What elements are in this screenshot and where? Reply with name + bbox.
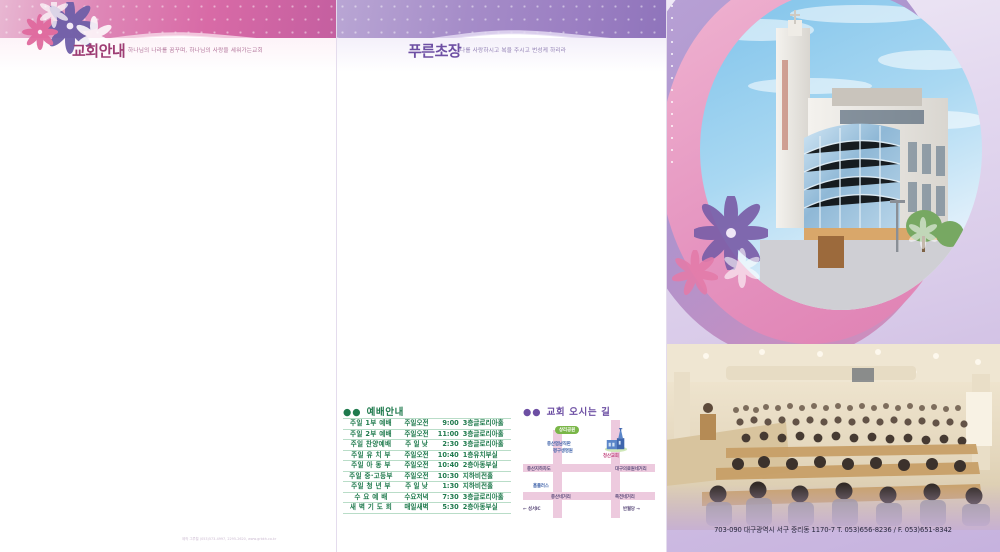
- schedule-row: 수 요 예 배수요저녁7:303층글로리아홀: [343, 492, 511, 503]
- schedule-row: 주일 찬양예배주 일 낮2:303층글로리아홀: [343, 440, 511, 451]
- schedule-cell-time: 10:40: [434, 450, 461, 461]
- schedule-cell-when: 주 일 낮: [399, 440, 434, 451]
- schedule-cell-time: 10:30: [434, 471, 461, 482]
- schedule-cell-place: 3층글로리아홀: [461, 429, 511, 440]
- schedule-cell-service: 수 요 예 배: [343, 492, 399, 503]
- schedule-cell-place: 3층글로리아홀: [461, 492, 511, 503]
- header-tint-field: [0, 38, 336, 72]
- schedule-cell-time: 7:30: [434, 492, 461, 503]
- schedule-cell-when: 주일오전: [399, 429, 434, 440]
- section-heading-worship: ●●예배안내: [343, 404, 404, 418]
- schedule-cell-place: 3층글로리아홀: [461, 419, 511, 430]
- schedule-row: 주일 중·고등부주일오전10:30지하비전홀: [343, 471, 511, 482]
- map-landmark-6: 중산네거리: [551, 494, 571, 500]
- map-road-horizontal-lower: [523, 492, 655, 500]
- map-direction-left: ← 성서IC: [523, 506, 541, 512]
- map-landmark-1: 중산염남직판: [547, 441, 571, 447]
- schedule-cell-place: 3층글로리아홀: [461, 440, 511, 451]
- page-subtitle-pureun-chojang: 나를 사랑하시고 복을 주시고 번성케 하리라: [460, 46, 566, 54]
- schedule-cell-place: 2층아동부실: [461, 503, 511, 514]
- schedule-cell-service: 주일 2부 예배: [343, 429, 399, 440]
- schedule-cell-when: 주일오전: [399, 461, 434, 472]
- schedule-cell-when: 수요저녁: [399, 492, 434, 503]
- header-tint-field-2: [336, 38, 666, 72]
- schedule-cell-place: 2층아동부실: [461, 461, 511, 472]
- map-direction-right: 반월당 →: [623, 506, 640, 512]
- schedule-cell-time: 11:00: [434, 429, 461, 440]
- map-landmark-park: 상리공원: [555, 426, 579, 434]
- map-landmark-2: 평구생명원: [553, 448, 573, 454]
- schedule-row: 주일 2부 예배주일오전11:003층글로리아홀: [343, 429, 511, 440]
- schedule-cell-service: 주일 1부 예배: [343, 419, 399, 430]
- schedule-cell-time: 1:30: [434, 482, 461, 493]
- panel-fold-line-1: [336, 0, 337, 552]
- schedule-cell-service: 주일 찬양예배: [343, 440, 399, 451]
- panel-cover: 복음을 나누는 교회 청산교회 담임목사 오 재 현 하나님의말씀과 기도로 거…: [666, 0, 1000, 552]
- map-church-label: 청산교회: [603, 453, 619, 459]
- schedule-cell-when: 주일오전: [399, 419, 434, 430]
- schedule-cell-time: 9:00: [434, 419, 461, 430]
- schedule-row: 주일 1부 예배주일오전9:003층글로리아홀: [343, 419, 511, 430]
- schedule-cell-time: 2:30: [434, 440, 461, 451]
- square-bullet-icon-2: ●●: [523, 407, 542, 418]
- map-landmark-3: 중산지하차도: [527, 466, 551, 472]
- panel-body-blank: [0, 60, 336, 552]
- worship-schedule-table: 주일 1부 예배주일오전9:003층글로리아홀주일 2부 예배주일오전11:00…: [343, 418, 511, 514]
- map-landmark-4: 대구의료원네거리: [615, 466, 647, 472]
- church-building-photo: [700, 0, 982, 310]
- schedule-row: 주일 아 동 부주일오전10:402층아동부실: [343, 461, 511, 472]
- congregation-photo: [666, 344, 1000, 530]
- schedule-cell-place: 지하비전홀: [461, 471, 511, 482]
- schedule-cell-service: 새 벽 기 도 회: [343, 503, 399, 514]
- page-title-church-guide: 교회안내: [72, 40, 125, 61]
- schedule-cell-time: 5:30: [434, 503, 461, 514]
- page-subtitle-church-guide: 하나님의 나라를 꿈꾸며, 하나님의 사랑을 세워가는교회: [128, 46, 263, 54]
- panel-fold-line-2: [666, 0, 667, 552]
- schedule-cell-place: 1층유치부실: [461, 450, 511, 461]
- cover-dot-pattern: [666, 0, 680, 170]
- schedule-cell-service: 주일 청 년 부: [343, 482, 399, 493]
- schedule-row: 주일 유 치 부주일오전10:401층유치부실: [343, 450, 511, 461]
- print-credit: 제작 그루철 (053)573-4997, 2295-2620, www.grb…: [182, 536, 276, 541]
- schedule-cell-place: 지하비전홀: [461, 482, 511, 493]
- section-heading-map: ●●교회 오시는 길: [523, 404, 610, 418]
- panel-church-guide: 교회안내 하나님의 나라를 꿈꾸며, 하나님의 사랑을 세워가는교회 제작 그루…: [0, 0, 336, 552]
- schedule-cell-when: 주일오전: [399, 471, 434, 482]
- section-heading-map-label: 교회 오시는 길: [547, 407, 611, 418]
- brochure-page: 교회안내 하나님의 나라를 꿈꾸며, 하나님의 사랑을 세워가는교회 제작 그루…: [0, 0, 1000, 552]
- church-steeple-icon: [603, 428, 629, 452]
- page-title-pureun-chojang: 푸른초장: [408, 40, 461, 61]
- location-map[interactable]: 상리공원 청산교회 중산염남직판 평구생명원 중산지하차도 대구의료원네거리 홈…: [523, 420, 655, 518]
- map-landmark-7: 죽전네거리: [615, 494, 635, 500]
- schedule-cell-service: 주일 중·고등부: [343, 471, 399, 482]
- schedule-row: 새 벽 기 도 회매일새벽5:302층아동부실: [343, 503, 511, 514]
- map-landmark-5: 홈플러스: [533, 483, 549, 489]
- schedule-cell-when: 매일새벽: [399, 503, 434, 514]
- section-heading-worship-label: 예배안내: [367, 407, 404, 418]
- schedule-cell-when: 주 일 낮: [399, 482, 434, 493]
- schedule-cell-when: 주일오전: [399, 450, 434, 461]
- schedule-cell-service: 주일 유 치 부: [343, 450, 399, 461]
- church-address: 703-090 대구광역시 서구 중리동 1170-7 T. 053)656-8…: [666, 524, 1000, 534]
- schedule-cell-time: 10:40: [434, 461, 461, 472]
- schedule-cell-service: 주일 아 동 부: [343, 461, 399, 472]
- schedule-row: 주일 청 년 부주 일 낮1:30지하비전홀: [343, 482, 511, 493]
- square-bullet-icon: ●●: [343, 407, 362, 418]
